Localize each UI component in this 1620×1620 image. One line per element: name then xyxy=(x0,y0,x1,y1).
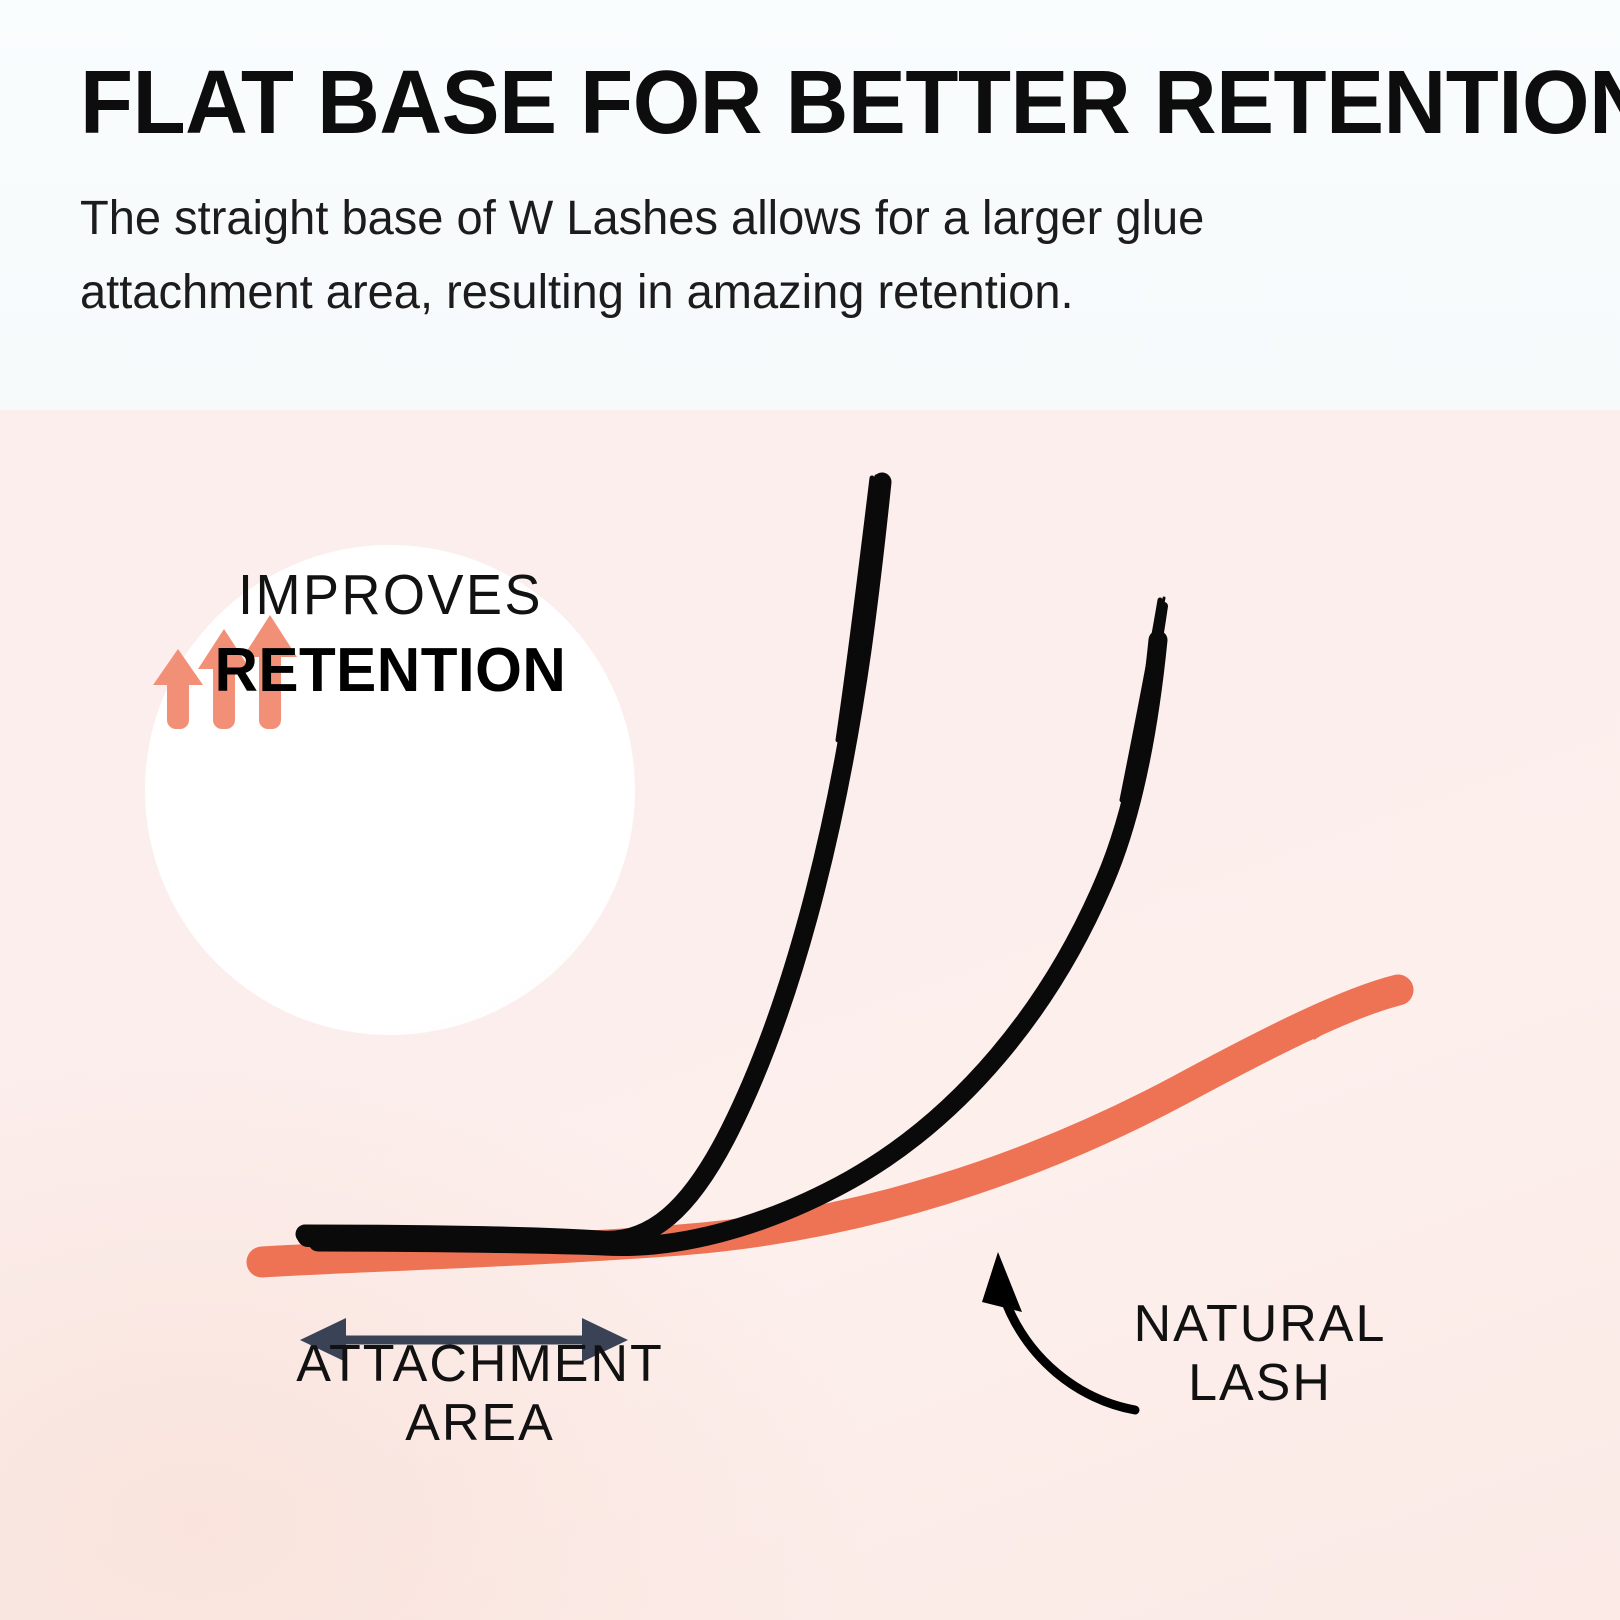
badge-label-retention: RETENTION xyxy=(214,640,566,702)
attachment-area-label-line1: ATTACHMENT xyxy=(190,1335,770,1394)
improves-retention-badge: IMPROVES RETENTION xyxy=(145,545,635,1035)
flat-base-shape xyxy=(308,1236,602,1242)
natural-lash-label-line1: NATURAL xyxy=(1090,1295,1430,1354)
attachment-area-label: ATTACHMENT AREA xyxy=(190,1335,770,1453)
illustration-panel: IMPROVES RETENTION ATTACHMENT AREA NATUR… xyxy=(0,410,1620,1620)
page-subtitle: The straight base of W Lashes allows for… xyxy=(80,182,1432,331)
page-title: FLAT BASE FOR BETTER RETENTION xyxy=(80,58,1489,148)
natural-lash-label: NATURAL LASH xyxy=(1090,1295,1430,1413)
natural-lash-label-line2: LASH xyxy=(1090,1354,1430,1413)
attachment-area-label-line2: AREA xyxy=(190,1394,770,1453)
badge-label-improves: IMPROVES xyxy=(238,567,543,624)
header-panel: FLAT BASE FOR BETTER RETENTION The strai… xyxy=(0,0,1620,410)
infographic-canvas: FLAT BASE FOR BETTER RETENTION The strai… xyxy=(0,0,1620,1620)
